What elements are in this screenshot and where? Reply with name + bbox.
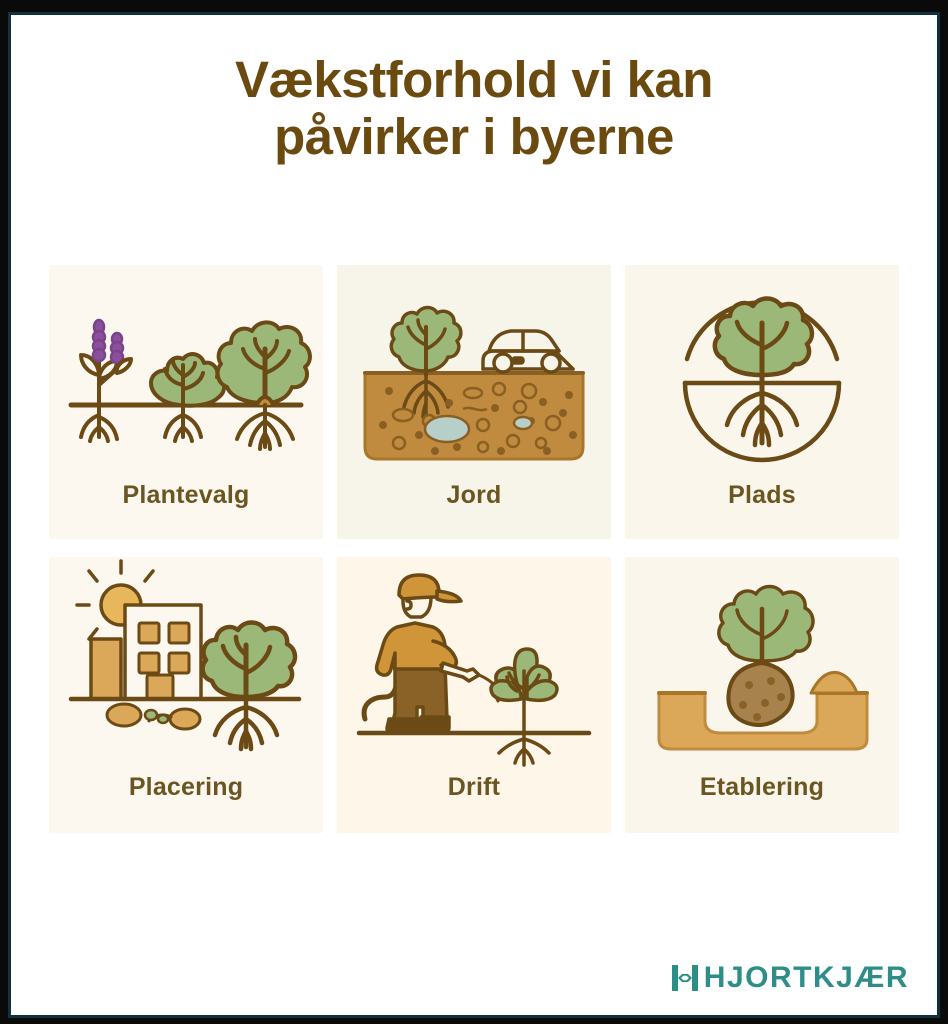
card-label: Jord [447,481,502,510]
card-placering[interactable]: Placering [49,557,323,833]
root-space-icon [625,265,899,479]
placement-icon [49,557,323,771]
factor-card-grid: Plantevalg [49,265,903,833]
card-etablering[interactable]: Etablering [625,557,899,833]
page-canvas: Vækstforhold vi kan påvirker i byerne [11,15,937,1015]
brand-logo-text: HJORTKJÆR [704,963,909,993]
card-jord[interactable]: Jord [337,265,611,539]
card-label: Etablering [700,773,824,802]
plant-selection-icon [49,265,323,479]
maintenance-icon [337,557,611,771]
card-plantevalg[interactable]: Plantevalg [49,265,323,539]
page-title: Vækstforhold vi kan påvirker i byerne [11,51,937,165]
card-label: Drift [448,773,500,802]
card-label: Placering [129,773,243,802]
page-title-line-1: Vækstforhold vi kan [71,51,877,108]
card-plads[interactable]: Plads [625,265,899,539]
page-title-line-2: påvirker i byerne [71,108,877,165]
brand-logo[interactable]: HJORTKJÆR [670,963,909,993]
soil-profile-icon [337,265,611,479]
hjortkjaer-h-mark [670,963,700,993]
page-border: Vækstforhold vi kan påvirker i byerne [8,12,940,1018]
card-label: Plads [728,481,796,510]
planting-pit-icon [625,557,899,771]
card-label: Plantevalg [122,481,249,510]
card-drift[interactable]: Drift [337,557,611,833]
